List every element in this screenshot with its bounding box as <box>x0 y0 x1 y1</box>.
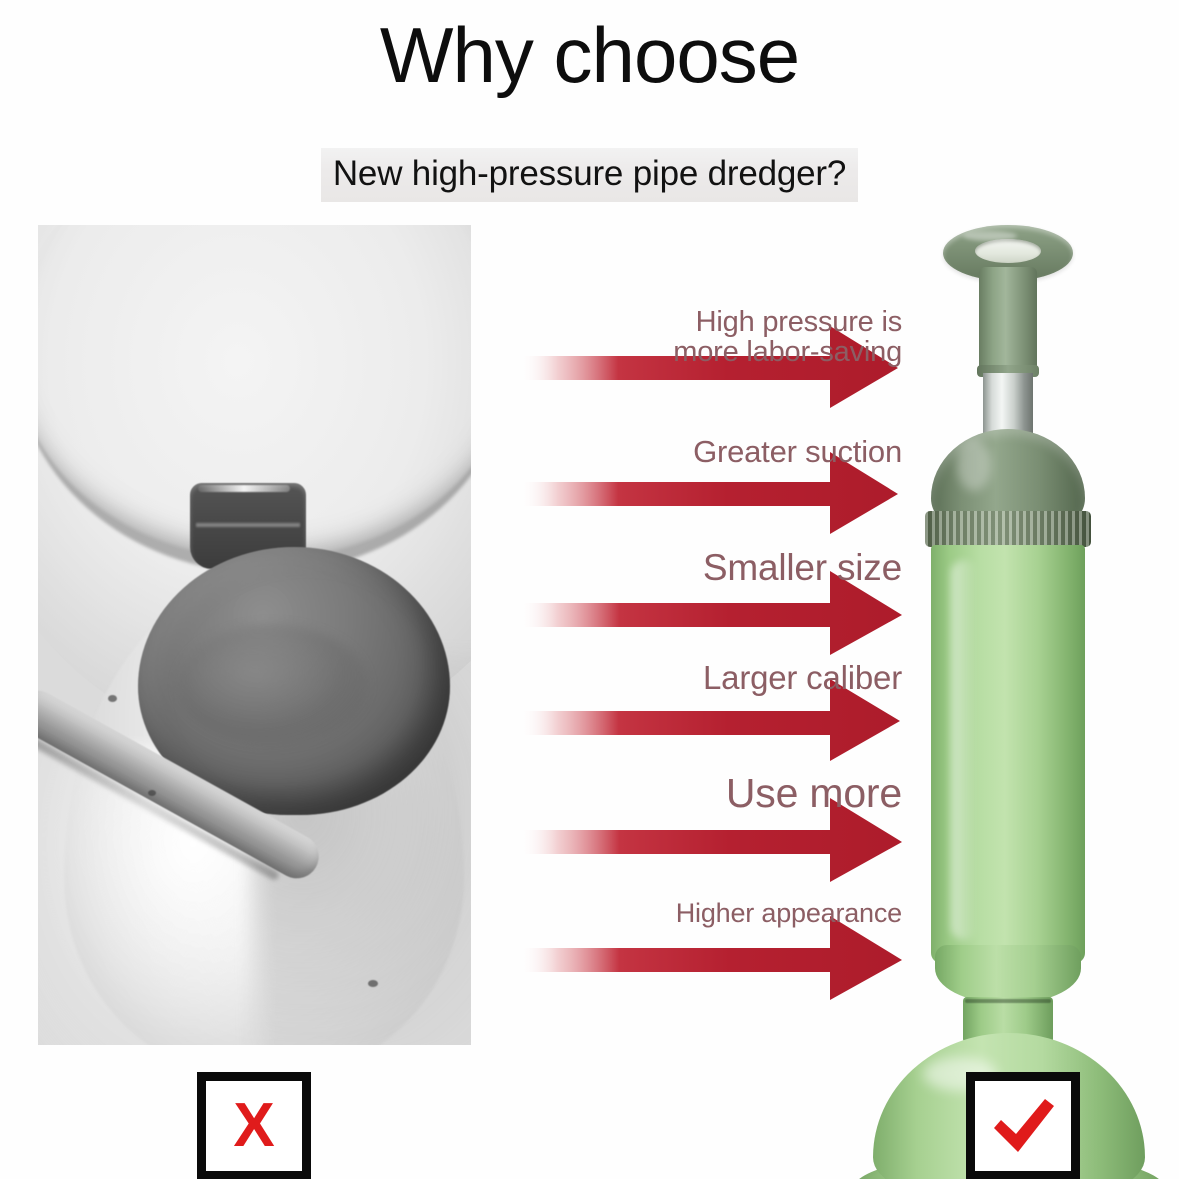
product-dome-highlight <box>957 439 991 491</box>
product-handle-highlight <box>963 231 1017 241</box>
infographic-page: Why choose New high-pressure pipe dredge… <box>0 0 1179 1179</box>
check-mark-icon <box>988 1094 1058 1158</box>
verdict-box-good <box>966 1072 1080 1179</box>
new-dredger-product-image <box>835 215 1165 1055</box>
product-knurled-collar <box>925 511 1091 547</box>
product-chrome-shaft <box>983 373 1033 435</box>
product-handle-ring-hole <box>975 239 1041 263</box>
x-mark-icon: X <box>233 1095 274 1157</box>
verdict-box-bad: X <box>197 1072 311 1179</box>
product-lower-neck-seam <box>965 999 1051 1003</box>
product-handle-stem <box>979 267 1037 375</box>
product-barrel-shoulder <box>935 945 1081 1003</box>
product-barrel-highlight <box>951 560 977 940</box>
